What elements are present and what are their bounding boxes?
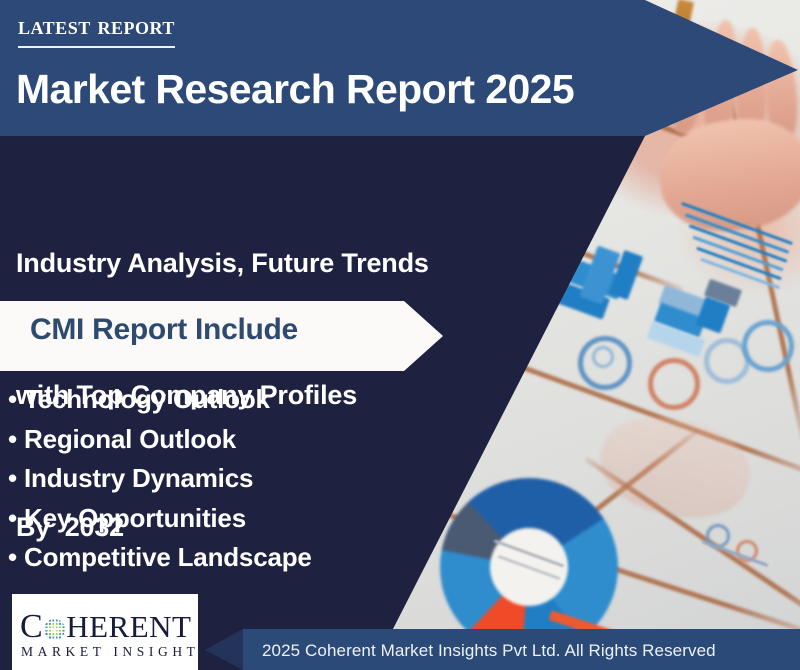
logo-wordmark: CHERENT: [20, 608, 191, 646]
logo-word-rest: HERENT: [66, 609, 191, 645]
bullet-dot-icon: •: [8, 465, 24, 491]
list-item: •Competitive Landscape: [8, 538, 312, 578]
list-item: •Technology Outlook: [8, 380, 312, 420]
logo-globe-icon: [44, 619, 65, 640]
page-title: Market Research Report 2025: [16, 66, 574, 113]
logo-letter-c: C: [20, 608, 43, 646]
footer-copyright: 2025 Coherent Market Insights Pvt Ltd. A…: [262, 641, 716, 661]
report-include-list: •Technology Outlook •Regional Outlook •I…: [8, 380, 312, 578]
bullet-dot-icon: •: [8, 544, 24, 570]
cmi-banner-label: CMI Report Include: [30, 313, 298, 347]
list-item-label: Industry Dynamics: [24, 463, 253, 493]
bullet-dot-icon: •: [8, 505, 24, 531]
logo-tagline: MARKET INSIGHTS: [21, 644, 198, 660]
bullet-dot-icon: •: [8, 426, 24, 452]
list-item-label: Competitive Landscape: [24, 542, 312, 572]
subtitle-line-1: Industry Analysis, Future Trends: [16, 241, 429, 285]
list-item-label: Key Opportunities: [24, 503, 246, 533]
coherent-market-insights-logo: CHERENT MARKET INSIGHTS: [12, 594, 198, 670]
list-item-label: Regional Outlook: [24, 424, 236, 454]
list-item: •Regional Outlook: [8, 420, 312, 460]
list-item: •Industry Dynamics: [8, 459, 312, 499]
bullet-dot-icon: •: [8, 386, 24, 412]
report-poster: Latest Report Market Research Report 202…: [0, 0, 800, 670]
eyebrow-latest-report: Latest Report: [18, 14, 175, 48]
list-item-label: Technology Outlook: [24, 384, 270, 414]
list-item: •Key Opportunities: [8, 499, 312, 539]
